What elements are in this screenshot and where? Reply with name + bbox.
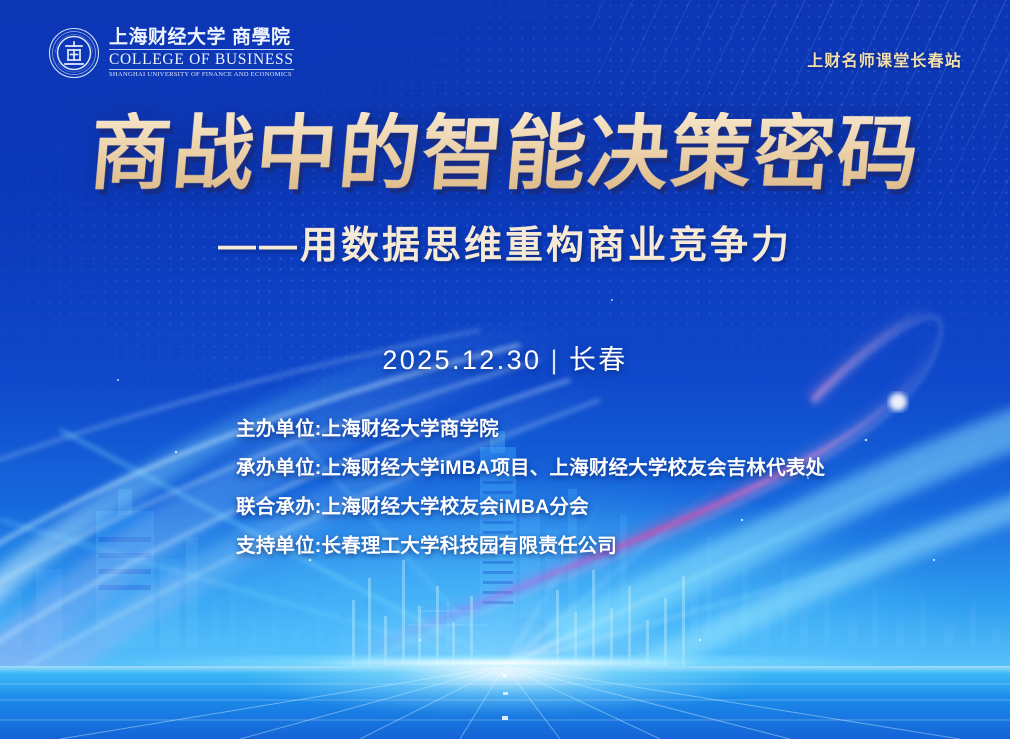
series-badge: 上财名师课堂长春站 bbox=[807, 47, 962, 71]
logo-cn-university: 上海财经大学 bbox=[109, 27, 226, 48]
event-datetime: 2025.12.30|长春 bbox=[0, 338, 1010, 377]
page-title: 商战中的智能决策密码 bbox=[0, 112, 1010, 196]
event-date: 2025.12.30 bbox=[382, 345, 541, 375]
poster-header: 上海财经大学商學院 COLLEGE OF BUSINESS SHANGHAI U… bbox=[0, 0, 1010, 92]
date-separator: | bbox=[541, 345, 568, 375]
floor-grid-lines bbox=[0, 666, 1010, 739]
organizer-row-host: 主办单位:上海财经大学商学院 bbox=[236, 412, 976, 441]
logo-divider-bottom bbox=[109, 69, 294, 70]
organizer-row-coorganizer: 承办单位:上海财经大学iMBA项目、上海财经大学校友会吉林代表处 bbox=[236, 451, 976, 480]
floor-center-glow bbox=[125, 666, 885, 739]
logo-wordmark: 上海财经大学商學院 COLLEGE OF BUSINESS SHANGHAI U… bbox=[109, 27, 294, 78]
logo-english-name: COLLEGE OF BUSINESS bbox=[109, 52, 294, 68]
organizer-row-joint: 联合承办:上海财经大学校友会iMBA分会 bbox=[236, 490, 976, 519]
event-city: 长春 bbox=[569, 345, 628, 375]
organizer-row-support: 支持单位:长春理工大学科技园有限责任公司 bbox=[236, 529, 976, 558]
page-subtitle: ——用数据思维重构商业竞争力 bbox=[0, 214, 1010, 269]
logo-cn-college: 商學院 bbox=[232, 27, 291, 48]
organizer-list: 主办单位:上海财经大学商学院 承办单位:上海财经大学iMBA项目、上海财经大学校… bbox=[236, 412, 976, 558]
logo-chinese-name: 上海财经大学商學院 bbox=[109, 28, 294, 49]
horizon-glow bbox=[0, 655, 1010, 671]
title-block: 商战中的智能决策密码 ——用数据思维重构商业竞争力 bbox=[0, 112, 1010, 269]
university-seal-icon bbox=[48, 27, 100, 79]
event-poster: 上海财经大学商學院 COLLEGE OF BUSINESS SHANGHAI U… bbox=[0, 0, 1010, 739]
perspective-floor bbox=[0, 666, 1010, 739]
university-logo: 上海财经大学商學院 COLLEGE OF BUSINESS SHANGHAI U… bbox=[48, 27, 294, 79]
logo-divider-top bbox=[109, 49, 294, 50]
logo-english-subtitle: SHANGHAI UNIVERSITY OF FINANCE AND ECONO… bbox=[109, 72, 294, 79]
